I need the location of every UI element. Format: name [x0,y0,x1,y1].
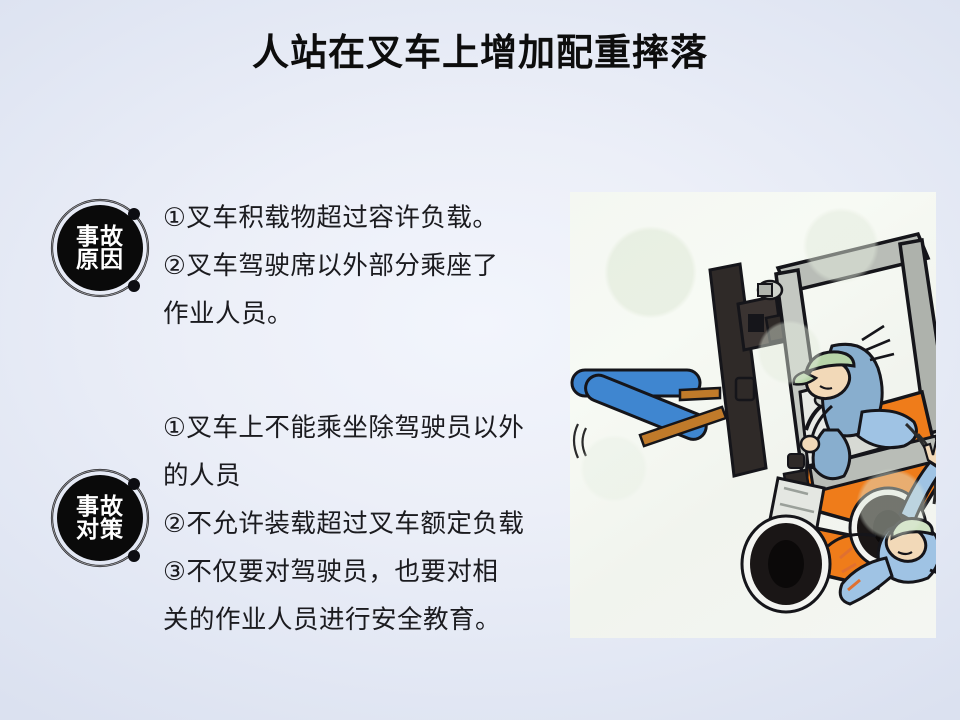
forks-group [572,370,726,458]
countermeasure-line: 关的作业人员进行安全教育。 [163,596,563,644]
forklift-accident-illustration [570,192,936,638]
cause-line: ①叉车积载物超过容许负载。 [163,194,563,242]
badge-cause-line1: 事故 [76,225,124,248]
accident-countermeasure-text: ①叉车上不能乘坐除驾驶员以外 的人员 ②不允许装载超过叉车额定负载 ③不仅要对驾… [163,404,563,644]
badge-disc-countermeasure: 事故 对策 [57,475,143,561]
countermeasure-line: ①叉车上不能乘坐除驾驶员以外 [163,404,563,452]
badge-disc-cause: 事故 原因 [57,205,143,291]
countermeasure-line: 的人员 [163,452,563,500]
cause-line: ②叉车驾驶席以外部分乘座了 [163,242,563,290]
countermeasure-line: ③不仅要对驾驶员，也要对相 [163,548,563,596]
badge-accident-countermeasure: 事故 对策 [48,466,152,570]
cause-line: 作业人员。 [163,290,563,338]
badge-counter-line1: 事故 [76,495,124,518]
badge-counter-line2: 对策 [76,518,124,541]
forklift-illustration-svg [570,192,936,638]
countermeasure-line: ②不允许装载超过叉车额定负载 [163,500,563,548]
accident-cause-text: ①叉车积载物超过容许负载。 ②叉车驾驶席以外部分乘座了 作业人员。 [163,194,563,338]
badge-cause-line2: 原因 [76,248,124,271]
page-title: 人站在叉车上增加配重摔落 [0,22,960,76]
badge-accident-cause: 事故 原因 [48,196,152,300]
slide-root: 人站在叉车上增加配重摔落 事故 原因 事故 对策 ①叉车积载物超过容许负载。 ②… [0,0,960,720]
